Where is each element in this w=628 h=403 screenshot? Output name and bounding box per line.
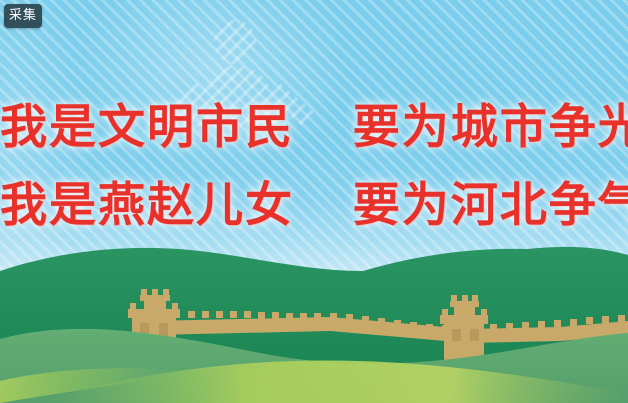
slogan-line-1: 我是文明市民 要为城市争光 [0, 104, 628, 151]
capture-button[interactable]: 采集 [4, 4, 42, 28]
slogan-poster: 我是文明市民 要为城市争光 我是燕赵儿女 要为河北争气 采集 [0, 0, 628, 403]
slogan-line-2: 我是燕赵儿女 要为河北争气 [0, 182, 628, 229]
slogan-line-1-left: 我是文明市民 [0, 100, 294, 155]
slogan-line-1-right: 要为城市争光 [353, 100, 628, 155]
landscape-hills [0, 243, 628, 403]
slogan-line-2-left: 我是燕赵儿女 [0, 178, 294, 233]
slogan-line-2-right: 要为河北争气 [353, 178, 628, 233]
